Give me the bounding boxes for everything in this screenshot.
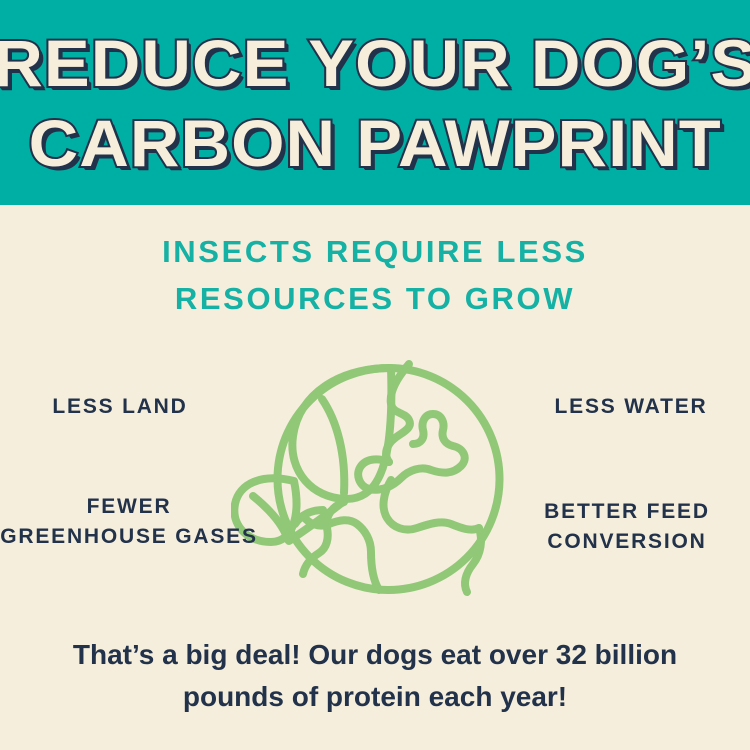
footer-line-1: That’s a big deal! Our dogs eat over 32 … <box>55 634 695 676</box>
benefit-label-less-water: LESS WATER <box>512 392 750 422</box>
benefit-fewer-ghg-line-1: FEWER <box>0 492 258 522</box>
benefit-label-fewer-greenhouse-gases: FEWER GREENHOUSE GASES <box>0 492 258 552</box>
large-leaf-midrib <box>322 399 344 493</box>
subtitle-line-2: RESOURCES TO GROW <box>0 275 750 322</box>
benefit-fewer-ghg-line-2: GREENHOUSE GASES <box>0 522 258 552</box>
subtitle-line-1: INSECTS REQUIRE LESS <box>0 228 750 275</box>
benefit-better-feed-line-1: BETTER FEED <box>508 497 746 527</box>
header-title-group: REDUCE YOUR DOG’S CARBON PAWPRINT <box>0 0 750 205</box>
globe-with-sprout-icon <box>231 352 523 600</box>
page-title-line-1: REDUCE YOUR DOG’S <box>0 30 750 96</box>
infographic-canvas: REDUCE YOUR DOG’S CARBON PAWPRINT INSECT… <box>0 0 750 750</box>
subtitle-heading: INSECTS REQUIRE LESS RESOURCES TO GROW <box>0 228 750 322</box>
benefit-label-better-feed-conversion: BETTER FEED CONVERSION <box>508 497 746 557</box>
footer-line-2: pounds of protein each year! <box>55 676 695 718</box>
continent-central <box>384 480 479 530</box>
footer-statement: That’s a big deal! Our dogs eat over 32 … <box>55 634 695 718</box>
benefit-less-land-line-1: LESS LAND <box>0 392 240 422</box>
globe-sprout-svg <box>231 352 523 600</box>
page-title-line-2: CARBON PAWPRINT <box>28 110 721 176</box>
benefit-less-water-line-1: LESS WATER <box>512 392 750 422</box>
benefit-better-feed-line-2: CONVERSION <box>508 527 746 557</box>
benefit-label-less-land: LESS LAND <box>0 392 240 422</box>
